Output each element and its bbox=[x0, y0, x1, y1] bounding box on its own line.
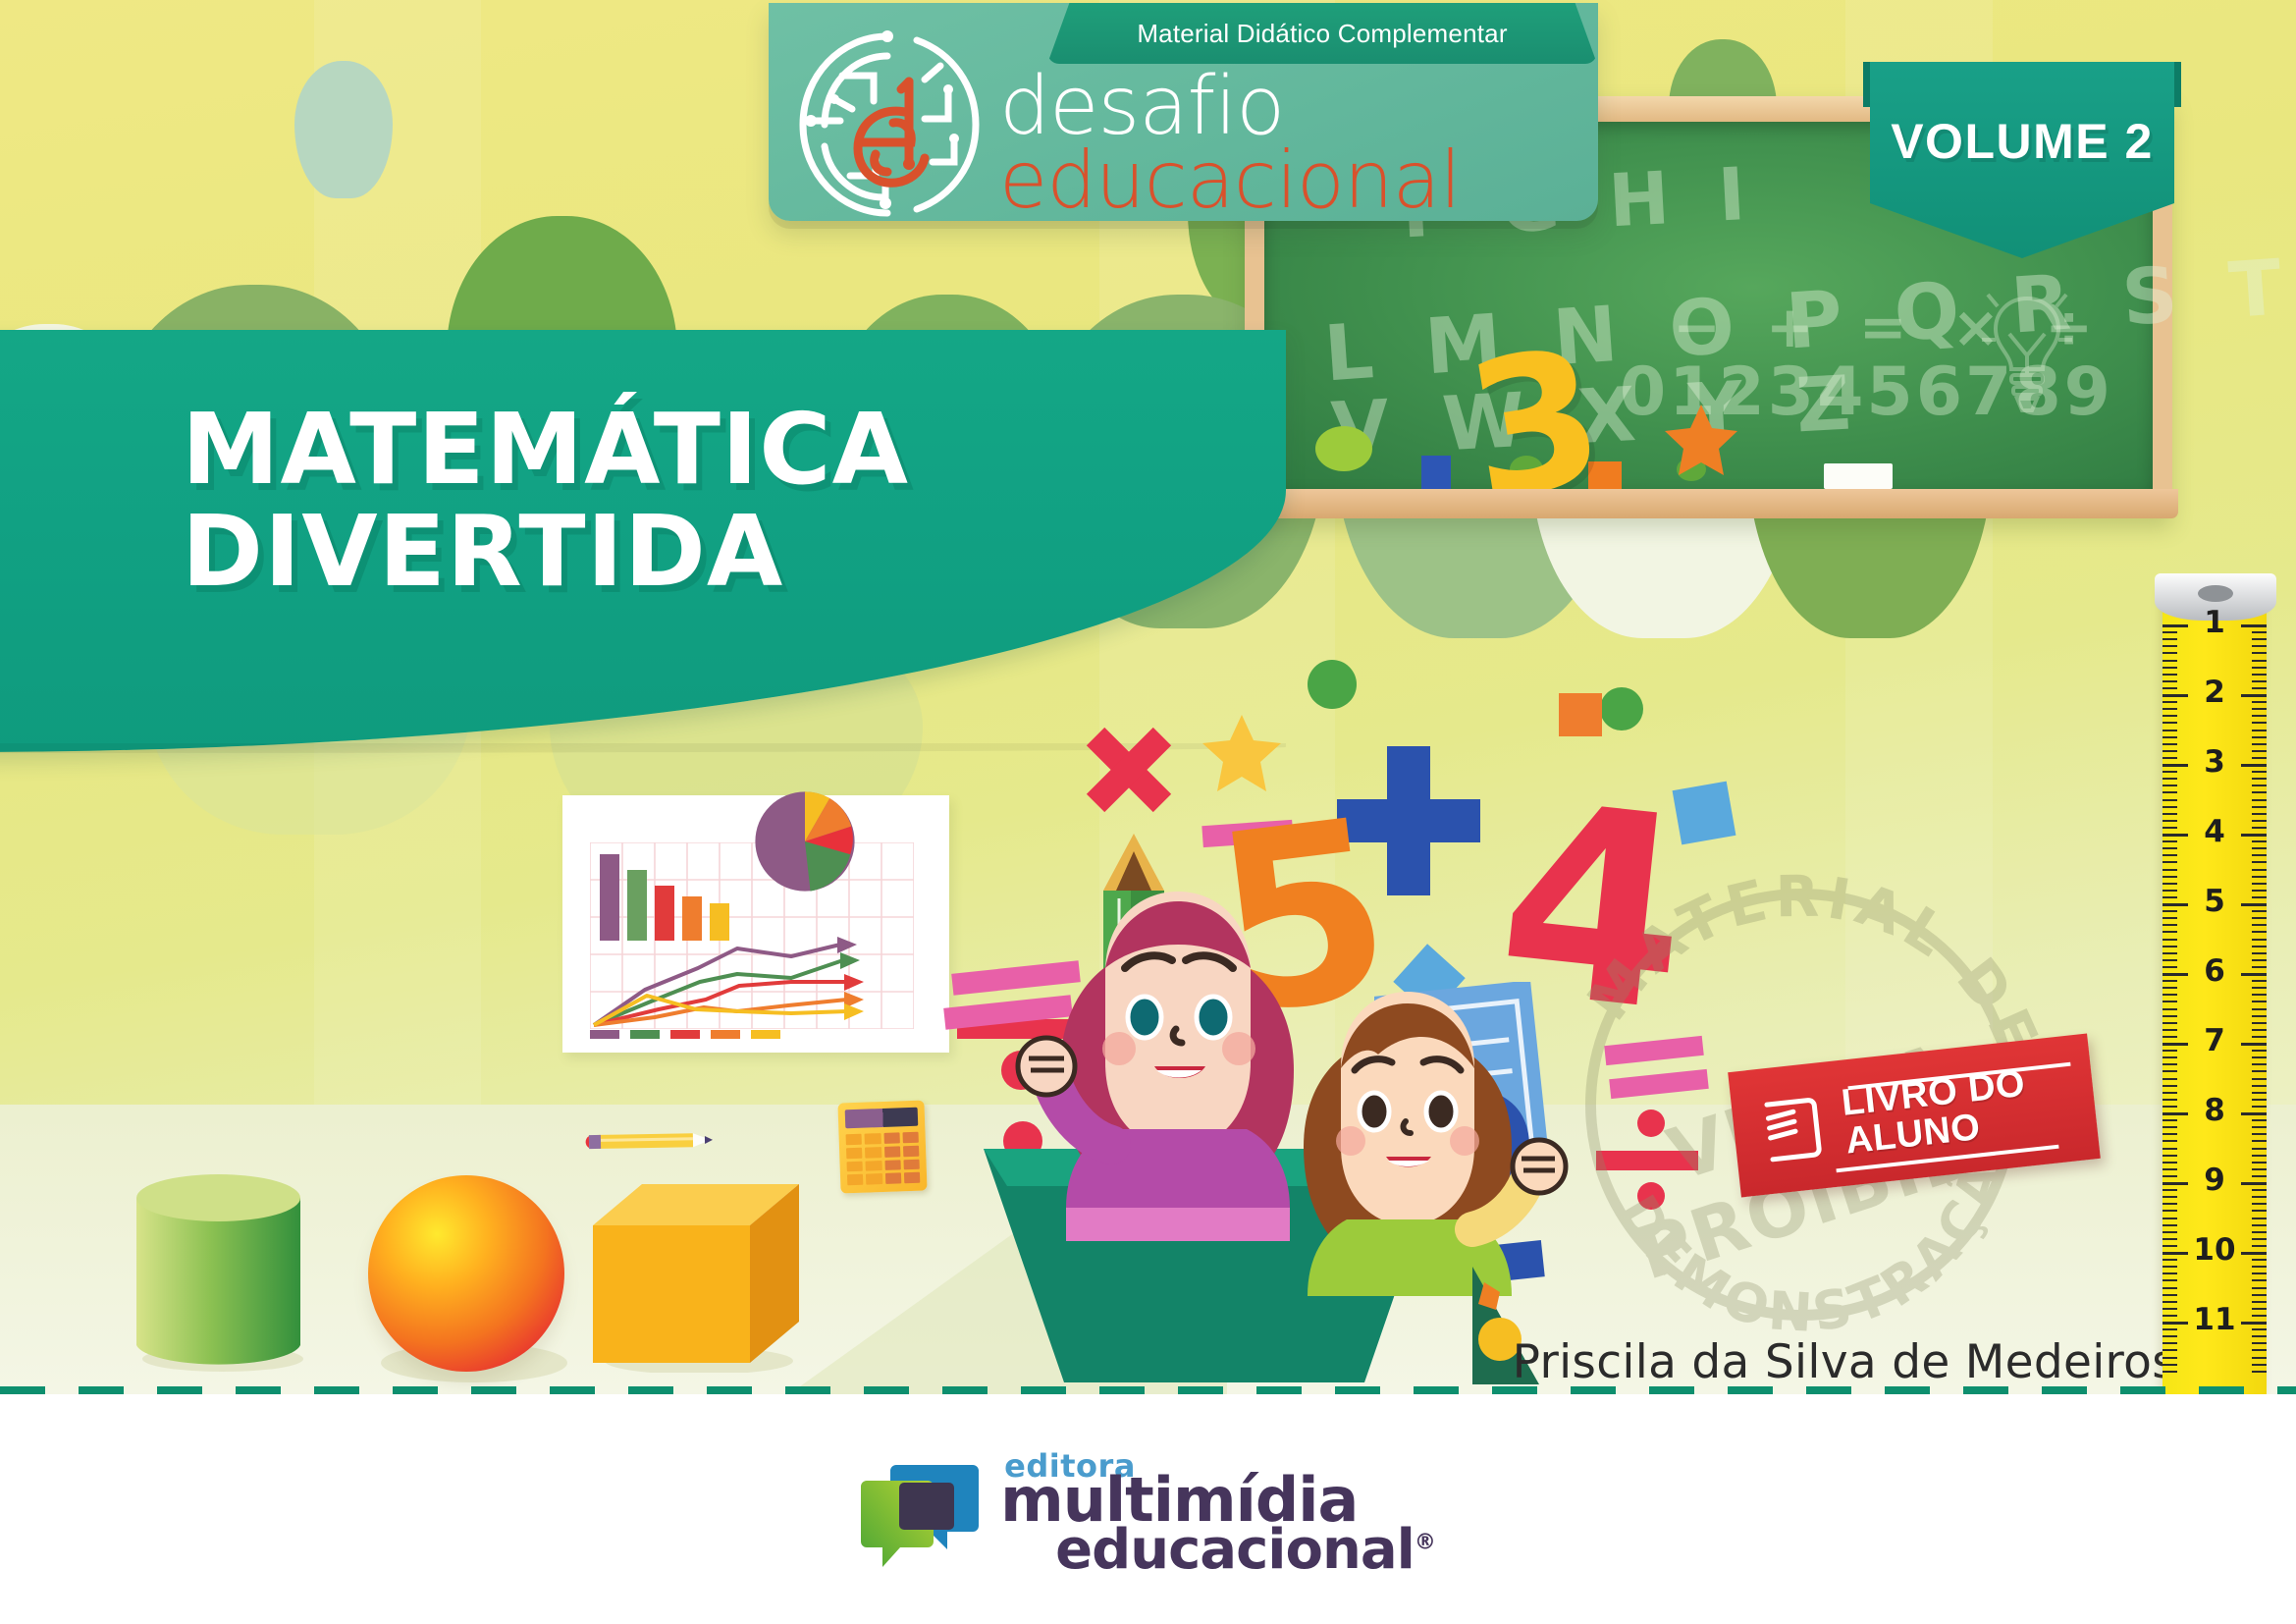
ruler-minor-tick bbox=[2163, 722, 2177, 724]
ruler-minor-tick bbox=[2163, 1357, 2177, 1359]
calc-key bbox=[866, 1173, 882, 1184]
ruler-minor-tick bbox=[2252, 994, 2267, 996]
ruler-minor-tick bbox=[2252, 1148, 2267, 1150]
calc-key bbox=[884, 1160, 901, 1170]
material-type-tab: Material Didático Complementar bbox=[1047, 3, 1597, 64]
bg-blob bbox=[294, 61, 393, 198]
ruler-minor-tick bbox=[2163, 730, 2177, 731]
legend-swatch bbox=[711, 1030, 740, 1039]
ruler-minor-tick bbox=[2252, 1371, 2267, 1373]
ruler-minor-tick bbox=[2252, 1008, 2267, 1010]
ruler-number: 1 bbox=[2163, 605, 2267, 640]
pie-chart bbox=[751, 787, 859, 895]
chalkboard-ledge bbox=[1239, 489, 2178, 518]
ruler-minor-tick bbox=[2163, 1070, 2177, 1072]
calc-key bbox=[902, 1132, 919, 1143]
calculator-icon bbox=[837, 1100, 927, 1193]
ruler-minor-tick bbox=[2163, 924, 2177, 926]
ruler-minor-tick bbox=[2163, 1015, 2177, 1017]
ruler-minor-tick bbox=[2163, 1279, 2177, 1281]
ruler-minor-tick bbox=[2163, 1001, 2177, 1002]
ruler-minor-tick bbox=[2252, 1140, 2267, 1142]
publisher-wordmark: editora multimídia educacional® bbox=[1000, 1451, 1435, 1577]
square-chip bbox=[1559, 693, 1602, 736]
title-line1: MATEMÁTICA bbox=[182, 401, 1212, 499]
ruler-minor-tick bbox=[2163, 869, 2177, 871]
ruler-minor-tick bbox=[2252, 722, 2267, 724]
ruler-minor-tick bbox=[2163, 652, 2177, 654]
ruler-minor-tick bbox=[2163, 994, 2177, 996]
calculator-keys bbox=[846, 1132, 921, 1186]
ruler-minor-tick bbox=[2252, 1364, 2267, 1366]
ruler-minor-tick bbox=[2163, 1085, 2177, 1087]
ruler-minor-tick bbox=[2252, 1349, 2267, 1351]
ruler-minor-tick bbox=[2163, 1349, 2177, 1351]
ruler-minor-tick bbox=[2252, 1015, 2267, 1017]
calc-key bbox=[904, 1172, 921, 1183]
book-cover: F G H I L M N O P Q R S T U V V W X Y Z … bbox=[0, 0, 2296, 1394]
calc-key bbox=[865, 1133, 881, 1144]
brand-name-line2: educacional bbox=[999, 143, 1461, 219]
author-name: Priscila da Silva de Medeiros bbox=[1513, 1335, 2176, 1389]
ruler-minor-tick bbox=[2163, 799, 2177, 801]
chart-legend bbox=[590, 1030, 780, 1039]
ruler-minor-tick bbox=[2252, 946, 2267, 947]
ruler-minor-tick bbox=[2252, 736, 2267, 738]
ruler-minor-tick bbox=[2163, 1371, 2177, 1373]
ruler-number: 5 bbox=[2163, 884, 2267, 919]
dashed-cut-line bbox=[0, 1386, 2296, 1394]
ruler-minor-tick bbox=[2252, 939, 2267, 941]
brand-name-line1: desafio bbox=[999, 70, 1461, 143]
ruler-minor-tick bbox=[2163, 791, 2177, 793]
ruler-number: 4 bbox=[2163, 814, 2267, 849]
ruler-minor-tick bbox=[2252, 854, 2267, 856]
ruler-minor-tick bbox=[2163, 1008, 2177, 1010]
ruler-minor-tick bbox=[2252, 1210, 2267, 1212]
calc-key bbox=[865, 1147, 881, 1158]
ruler-minor-tick bbox=[2252, 1133, 2267, 1135]
ruler-minor-tick bbox=[2252, 876, 2267, 878]
tape-measure-ruler: 1234567891011 bbox=[2163, 589, 2267, 1394]
dot-chip bbox=[1308, 660, 1357, 709]
publisher-logo: editora multimídia educacional® bbox=[861, 1451, 1435, 1577]
ruler-minor-tick bbox=[2163, 806, 2177, 808]
publisher-footer: editora multimídia educacional® bbox=[0, 1395, 2296, 1624]
ruler-minor-tick bbox=[2252, 924, 2267, 926]
children-illustration bbox=[962, 776, 1688, 1384]
ruler-number: 7 bbox=[2163, 1023, 2267, 1058]
ruler-minor-tick bbox=[2252, 1224, 2267, 1226]
ruler-minor-tick bbox=[2252, 1063, 2267, 1065]
ruler-minor-tick bbox=[2252, 869, 2267, 871]
ruler-minor-tick bbox=[2163, 660, 2177, 662]
ruler-minor-tick bbox=[2252, 1287, 2267, 1289]
calc-key bbox=[883, 1146, 900, 1157]
ruler-minor-tick bbox=[2252, 791, 2267, 793]
ruler-minor-tick bbox=[2163, 715, 2177, 717]
calc-key bbox=[846, 1161, 863, 1171]
lightbulb-icon bbox=[1980, 289, 2074, 416]
ruler-minor-tick bbox=[2163, 1364, 2177, 1366]
dot-chip bbox=[1600, 687, 1643, 731]
calc-key bbox=[866, 1161, 882, 1171]
calc-key bbox=[883, 1132, 900, 1143]
volume-label: VOLUME 2 bbox=[1891, 113, 2154, 170]
ruler-minor-tick bbox=[2252, 730, 2267, 731]
brand-wordmark: desafio educacional bbox=[999, 70, 1461, 219]
star-icon bbox=[1662, 403, 1740, 479]
book-pages-icon bbox=[1749, 1082, 1842, 1175]
board-chip bbox=[1315, 426, 1372, 471]
ruler-minor-tick bbox=[2252, 667, 2267, 669]
ruler-minor-tick bbox=[2252, 715, 2267, 717]
page-title: MATEMÁTICA DIVERTIDA bbox=[182, 401, 1212, 601]
ruler-minor-tick bbox=[2163, 854, 2177, 856]
calc-key bbox=[846, 1147, 863, 1158]
ruler-minor-tick bbox=[2163, 1218, 2177, 1219]
ruler-minor-tick bbox=[2252, 1279, 2267, 1281]
ruler-minor-tick bbox=[2163, 861, 2177, 863]
legend-swatch bbox=[590, 1030, 619, 1039]
ruler-number: 6 bbox=[2163, 953, 2267, 989]
ruler-minor-tick bbox=[2163, 1155, 2177, 1157]
calc-key bbox=[903, 1159, 920, 1169]
title-line2: DIVERTIDA bbox=[182, 503, 1212, 601]
ruler-number: 2 bbox=[2163, 675, 2267, 710]
ruler-minor-tick bbox=[2163, 1342, 2177, 1344]
ruler-number: 8 bbox=[2163, 1093, 2267, 1128]
ruler-minor-tick bbox=[2252, 1218, 2267, 1219]
ruler-minor-tick bbox=[2163, 1287, 2177, 1289]
registered-mark: ® bbox=[1415, 1530, 1435, 1554]
ruler-minor-tick bbox=[2252, 861, 2267, 863]
material-type-label: Material Didático Complementar bbox=[1137, 19, 1507, 49]
legend-swatch bbox=[670, 1030, 700, 1039]
ruler-minor-tick bbox=[2163, 1148, 2177, 1150]
orange-sphere bbox=[368, 1175, 564, 1372]
calc-key bbox=[884, 1173, 901, 1184]
ruler-minor-tick bbox=[2252, 652, 2267, 654]
calc-key bbox=[903, 1145, 920, 1156]
yellow-cube bbox=[589, 1178, 800, 1373]
publisher-name2: educacional® bbox=[1055, 1524, 1435, 1577]
ruler-minor-tick bbox=[2163, 1078, 2177, 1080]
brand-logo-card: Material Didático Complementar bbox=[769, 3, 1598, 221]
ruler-minor-tick bbox=[2252, 1070, 2267, 1072]
ruler-number: 9 bbox=[2163, 1163, 2267, 1198]
ruler-minor-tick bbox=[2163, 946, 2177, 947]
ruler-minor-tick bbox=[2252, 785, 2267, 786]
legend-swatch bbox=[751, 1030, 780, 1039]
maze-de-monogram-icon bbox=[791, 30, 983, 219]
publisher-name2-text: educacional bbox=[1055, 1518, 1415, 1582]
chalk-eraser bbox=[1824, 463, 1893, 489]
ruler-minor-tick bbox=[2163, 1203, 2177, 1205]
ruler-minor-tick bbox=[2252, 1203, 2267, 1205]
ruler-number: 3 bbox=[2163, 744, 2267, 780]
ruler-minor-tick bbox=[2252, 660, 2267, 662]
ruler-minor-tick bbox=[2252, 1357, 2267, 1359]
ruler-minor-tick bbox=[2252, 1078, 2267, 1080]
ruler-minor-tick bbox=[2252, 799, 2267, 801]
ruler-minor-tick bbox=[2252, 1272, 2267, 1274]
green-cylinder bbox=[133, 1170, 304, 1372]
ruler-minor-tick bbox=[2163, 645, 2177, 647]
ruler-minor-tick bbox=[2163, 667, 2177, 669]
ruler-number: 10 bbox=[2163, 1232, 2267, 1268]
ruler-number: 11 bbox=[2163, 1302, 2267, 1337]
ruler-minor-tick bbox=[2252, 1294, 2267, 1296]
pencil-icon bbox=[577, 1131, 724, 1152]
ruler-minor-tick bbox=[2163, 876, 2177, 878]
statistics-chart-illustration bbox=[562, 795, 949, 1053]
ruler-minor-tick bbox=[2252, 931, 2267, 933]
ruler-minor-tick bbox=[2252, 1155, 2267, 1157]
ruler-minor-tick bbox=[2163, 1224, 2177, 1226]
speech-bubbles-icon bbox=[861, 1459, 979, 1567]
ruler-minor-tick bbox=[2252, 1342, 2267, 1344]
ruler-minor-tick bbox=[2252, 1001, 2267, 1002]
ruler-minor-tick bbox=[2163, 1294, 2177, 1296]
ruler-minor-tick bbox=[2163, 1133, 2177, 1135]
calc-key bbox=[847, 1174, 864, 1185]
ruler-minor-tick bbox=[2252, 1085, 2267, 1087]
legend-swatch bbox=[630, 1030, 660, 1039]
ruler-minor-tick bbox=[2252, 806, 2267, 808]
calc-key bbox=[846, 1134, 863, 1145]
calculator-screen bbox=[845, 1108, 919, 1129]
ruler-minor-tick bbox=[2163, 785, 2177, 786]
ruler-minor-tick bbox=[2163, 939, 2177, 941]
ruler-minor-tick bbox=[2163, 736, 2177, 738]
ruler-minor-tick bbox=[2163, 1272, 2177, 1274]
ruler-minor-tick bbox=[2163, 1210, 2177, 1212]
ruler-minor-tick bbox=[2163, 931, 2177, 933]
ruler-minor-tick bbox=[2163, 1140, 2177, 1142]
ruler-minor-tick bbox=[2163, 1063, 2177, 1065]
ruler-minor-tick bbox=[2252, 645, 2267, 647]
